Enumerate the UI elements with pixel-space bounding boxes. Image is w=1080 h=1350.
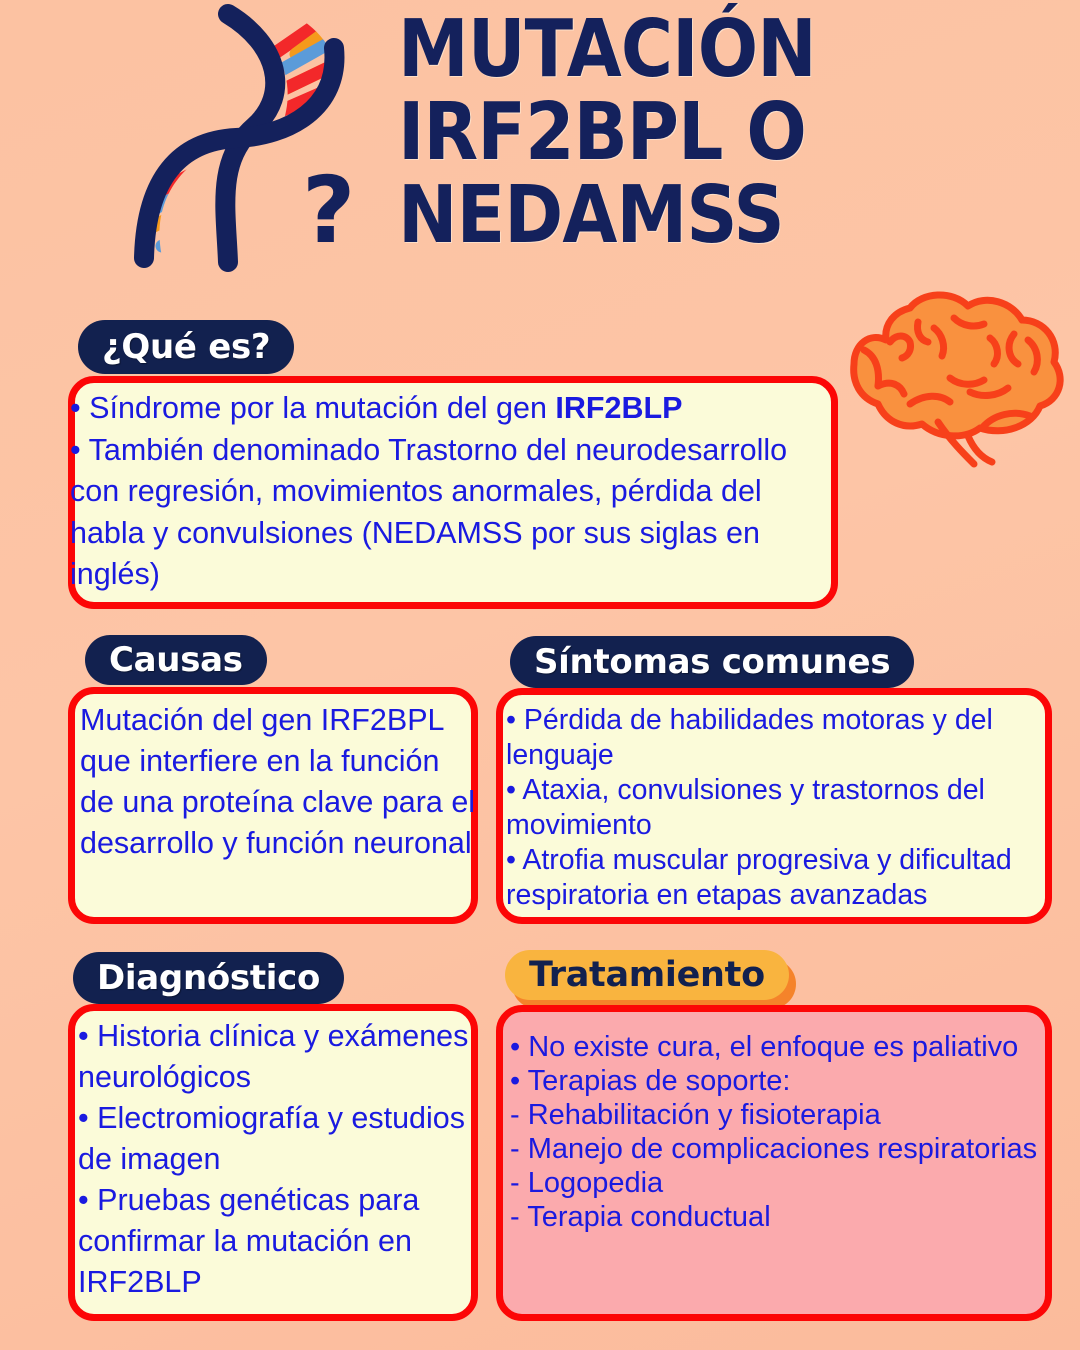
svg-text:?: ? — [302, 160, 355, 264]
section-label-sintomas: Síntomas comunes — [510, 636, 914, 688]
section-label-que-es: ¿Qué es? — [78, 320, 294, 374]
brain-icon — [842, 282, 1072, 472]
card-body-tratamiento: • No existe cura, el enfoque es paliativ… — [510, 1030, 1058, 1234]
infographic-poster: ? MUTACIÓN IRF2BPL O NEDAMSS — [0, 0, 1080, 1350]
card-body-causas: Mutación del gen IRF2BPL que interfiere … — [80, 700, 480, 864]
page-title: MUTACIÓN IRF2BPL O NEDAMSS — [398, 8, 992, 257]
card-body-que-es: • Síndrome por la mutación del gen IRF2B… — [70, 388, 840, 596]
card-body-sintomas: • Pérdida de habilidades motoras y del l… — [506, 703, 1072, 913]
section-label-diagnostico: Diagnóstico — [73, 952, 344, 1004]
card-body-diagnostico: • Historia clínica y exámenes neurológic… — [78, 1016, 486, 1303]
question-mark-icon: ? — [296, 160, 376, 270]
poster-header: ? MUTACIÓN IRF2BPL O NEDAMSS — [0, 0, 1080, 290]
section-label-causas: Causas — [85, 635, 267, 685]
section-label-tratamiento: Tratamiento — [505, 950, 789, 1000]
